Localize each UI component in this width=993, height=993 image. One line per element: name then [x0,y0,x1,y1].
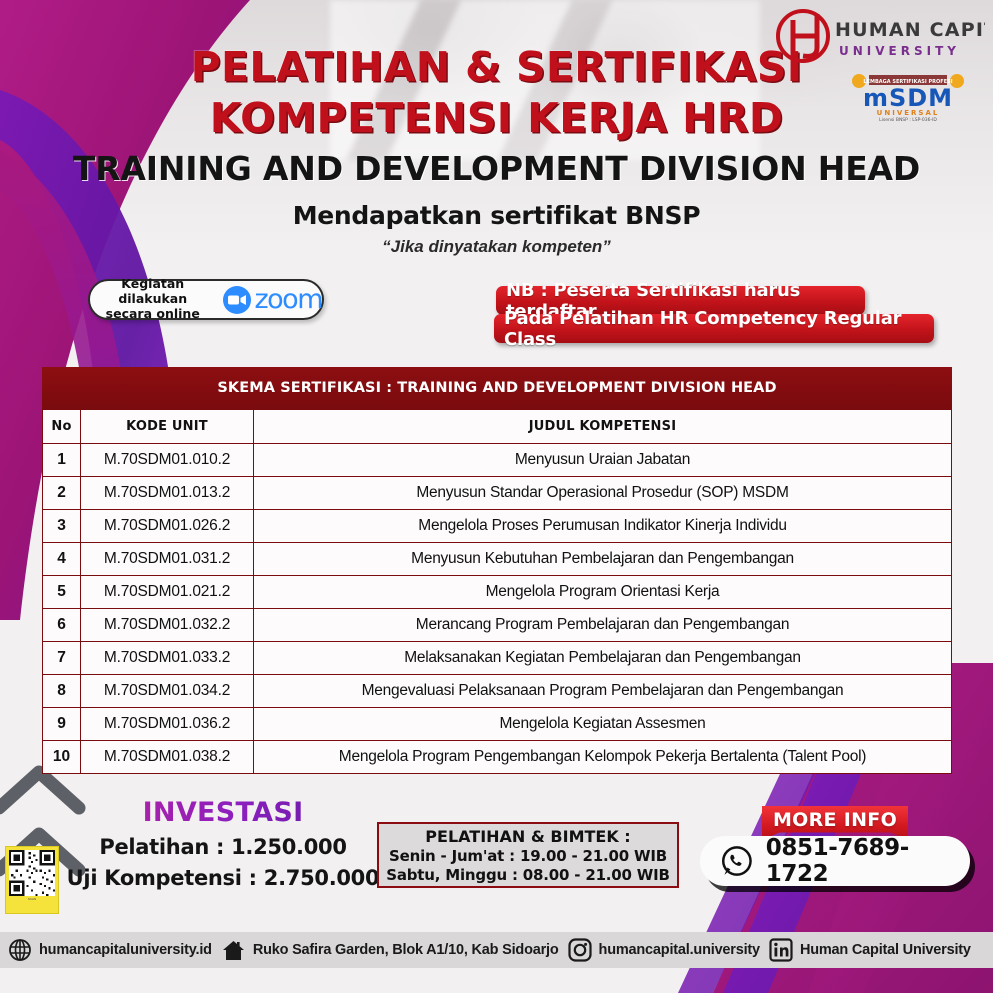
table-row: 6M.70SDM01.032.2Merancang Program Pembel… [43,609,952,642]
cell-title: Menyusun Kebutuhan Pembelajaran dan Peng… [254,543,952,576]
schedule-weekday: Senin - Jum'at : 19.00 - 21.00 WIB [389,847,667,865]
cell-title: Mengelola Kegiatan Assesmen [254,708,952,741]
investment-training-price: Pelatihan : 1.250.000 [58,835,388,859]
msdm-universal-logo: LEMBAGA SERTIFIKASI PROFESI mSDM UNIVERS… [841,70,975,122]
whatsapp-contact-pill[interactable]: 0851-7689-1722 [700,836,970,886]
cell-no: 10 [43,741,81,774]
notice-line-2: Pada Pelatihan HR Competency Regular Cla… [494,314,934,343]
cell-code: M.70SDM01.036.2 [81,708,254,741]
hcu-sub-text: UNIVERSITY [839,44,960,58]
table-row: 9M.70SDM01.036.2Mengelola Kegiatan Asses… [43,708,952,741]
cell-title: Melaksanakan Kegiatan Pembelajaran dan P… [254,642,952,675]
cell-code: M.70SDM01.013.2 [81,477,254,510]
footer-address: Ruko Safira Garden, Blok A1/10, Kab Sido… [221,938,559,963]
cell-code: M.70SDM01.038.2 [81,741,254,774]
certification-scheme-table: SKEMA SERTIFIKASI : TRAINING AND DEVELOP… [42,367,952,774]
qr-code-badge: SCAN [5,846,59,914]
hcu-name-text: HUMAN CAPITAL [835,19,985,41]
cell-no: 6 [43,609,81,642]
cell-title: Mengelola Program Orientasi Kerja [254,576,952,609]
cell-code: M.70SDM01.034.2 [81,675,254,708]
column-header-no: No [43,410,81,444]
footer-instagram-text: humancapital.university [599,942,760,958]
cell-code: M.70SDM01.010.2 [81,444,254,477]
msdm-name-text: mSDM [863,84,953,112]
qr-caption: SCAN [28,898,36,902]
whatsapp-phone-number: 0851-7689-1722 [766,835,970,887]
program-subtitle: TRAINING AND DEVELOPMENT DIVISION HEAD [0,149,993,188]
cell-code: M.70SDM01.031.2 [81,543,254,576]
footer-linkedin-text: Human Capital University [800,942,971,958]
qr-code-icon [9,850,55,896]
cell-title: Menyusun Uraian Jabatan [254,444,952,477]
whatsapp-icon [720,844,754,878]
linkedin-icon [769,938,793,962]
investment-exam-price: Uji Kompetensi : 2.750.000 [58,866,388,890]
house-icon [221,938,246,963]
table-row: 7M.70SDM01.033.2Melaksanakan Kegiatan Pe… [43,642,952,675]
cell-no: 7 [43,642,81,675]
online-zoom-badge: Kegiatan dilakukan secara online zoom [88,279,324,320]
table-row: 2M.70SDM01.013.2Menyusun Standar Operasi… [43,477,952,510]
cell-code: M.70SDM01.021.2 [81,576,254,609]
cell-code: M.70SDM01.026.2 [81,510,254,543]
globe-icon [8,938,32,962]
table-header-row: No KODE UNIT JUDUL KOMPETENSI [43,410,952,444]
zoom-brand-text: zoom [254,286,322,313]
human-capital-university-logo: HUMAN CAPITAL UNIVERSITY [773,6,985,68]
table-row: 5M.70SDM01.021.2Mengelola Program Orient… [43,576,952,609]
cell-title: Mengelola Proses Perumusan Indikator Kin… [254,510,952,543]
msdm-sub-text: UNIVERSAL [877,109,940,117]
column-header-title: JUDUL KOMPETENSI [254,410,952,444]
table-row: 1M.70SDM01.010.2Menyusun Uraian Jabatan [43,444,952,477]
footer-website-text: humancapitaluniversity.id [39,942,212,958]
poster-canvas: PELATIHAN & SERTIFIKASI KOMPETENSI KERJA… [0,0,993,993]
msdm-license-text: Lisensi BNSP : LSP-036-ID [879,117,937,122]
investment-block: INVESTASI Pelatihan : 1.250.000 Uji Komp… [58,797,388,890]
footer-instagram[interactable]: humancapital.university [568,938,760,962]
table-title: SKEMA SERTIFIKASI : TRAINING AND DEVELOP… [42,367,952,409]
cell-title: Mengelola Program Pengembangan Kelompok … [254,741,952,774]
competency-quote: “Jika dinyatakan kompeten” [0,237,993,257]
instagram-icon [568,938,592,962]
table-row: 3M.70SDM01.026.2Mengelola Proses Perumus… [43,510,952,543]
cell-title: Mengevaluasi Pelaksanaan Program Pembela… [254,675,952,708]
zoom-badge-line-1: Kegiatan dilakukan [90,277,215,307]
cell-title: Menyusun Standar Operasional Prosedur (S… [254,477,952,510]
table-row: 4M.70SDM01.031.2Menyusun Kebutuhan Pembe… [43,543,952,576]
footer-website[interactable]: humancapitaluniversity.id [8,938,212,962]
cell-title: Merancang Program Pembelajaran dan Penge… [254,609,952,642]
column-header-code: KODE UNIT [81,410,254,444]
cell-no: 2 [43,477,81,510]
table-row: 8M.70SDM01.034.2Mengevaluasi Pelaksanaan… [43,675,952,708]
schedule-heading: PELATIHAN & BIMTEK : [425,827,630,846]
cell-code: M.70SDM01.033.2 [81,642,254,675]
certificate-line: Mendapatkan sertifikat BNSP [0,201,993,230]
schedule-box: PELATIHAN & BIMTEK : Senin - Jum'at : 19… [377,822,679,888]
zoom-badge-line-2: secara online [90,307,215,322]
cell-no: 3 [43,510,81,543]
table-row: 10M.70SDM01.038.2Mengelola Program Penge… [43,741,952,774]
footer-bar: humancapitaluniversity.id Ruko Safira Ga… [0,932,993,968]
schedule-weekend: Sabtu, Minggu : 08.00 - 21.00 WIB [386,866,670,884]
cell-no: 1 [43,444,81,477]
cell-no: 5 [43,576,81,609]
footer-address-text: Ruko Safira Garden, Blok A1/10, Kab Sido… [253,942,559,958]
cell-code: M.70SDM01.032.2 [81,609,254,642]
cell-no: 8 [43,675,81,708]
footer-linkedin[interactable]: Human Capital University [769,938,971,962]
cell-no: 9 [43,708,81,741]
zoom-camera-icon [222,285,252,315]
investment-heading: INVESTASI [58,797,388,828]
cell-no: 4 [43,543,81,576]
